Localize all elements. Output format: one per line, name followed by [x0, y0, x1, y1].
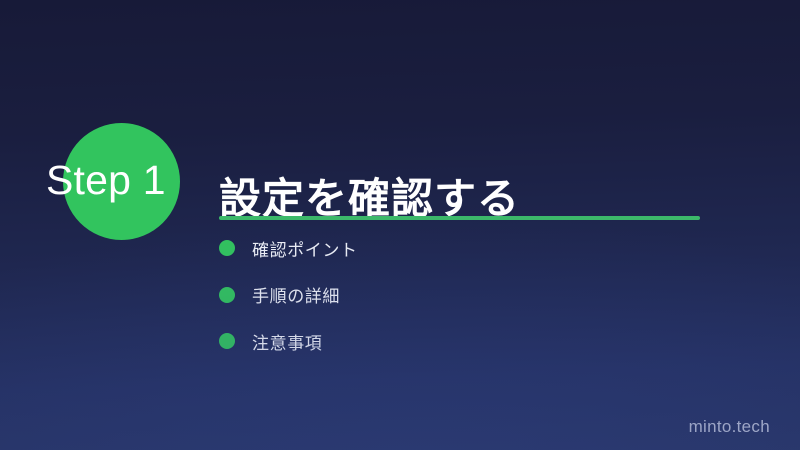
bullet-dot-icon: [219, 240, 235, 256]
list-item: 確認ポイント: [219, 233, 699, 263]
step-badge-label: Step 1: [46, 154, 236, 206]
bullet-list: 確認ポイント 手順の詳細 注意事項: [219, 233, 699, 373]
title-divider: [219, 216, 700, 220]
slide-canvas: Step 1 設定を確認する 確認ポイント 手順の詳細 注意事項 minto.t…: [0, 0, 800, 450]
list-item-label: 確認ポイント: [252, 236, 358, 261]
bullet-dot-icon: [219, 287, 235, 303]
list-item-label: 手順の詳細: [252, 282, 340, 307]
list-item: 手順の詳細: [219, 280, 699, 310]
bullet-dot-icon: [219, 333, 235, 349]
list-item: 注意事項: [219, 326, 699, 356]
watermark: minto.tech: [689, 417, 770, 437]
list-item-label: 注意事項: [252, 329, 322, 354]
